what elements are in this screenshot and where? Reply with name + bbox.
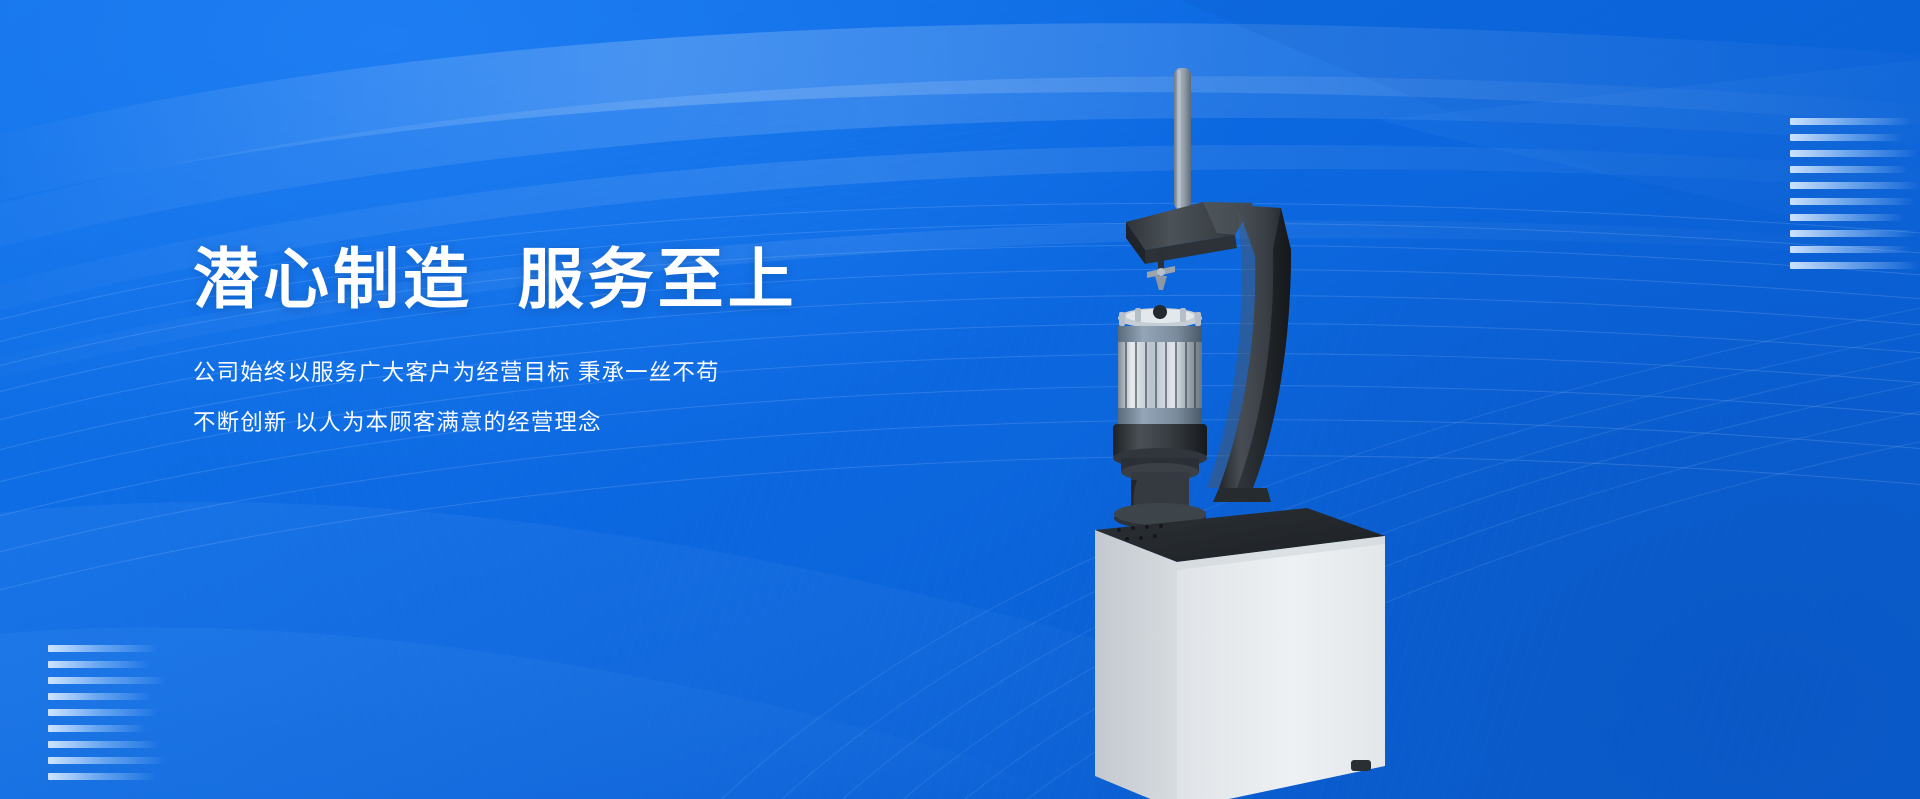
decor-bar (48, 709, 158, 716)
decor-bar (1790, 262, 1920, 269)
overhead-arm (1126, 202, 1253, 264)
decor-bar (1790, 134, 1902, 141)
cabinet-base (1095, 508, 1385, 799)
decor-bar (1790, 230, 1916, 237)
hero-subtitle: 公司始终以服务广大客户为经营目标 秉承一丝不苟 不断创新 以人为本顾客满意的经营… (193, 317, 993, 442)
cylindrical-filter-module (1113, 305, 1207, 529)
decor-bar (48, 741, 160, 748)
decor-bar (48, 645, 158, 652)
decor-bar (48, 693, 152, 700)
decor-bar (1790, 182, 1920, 189)
decor-bar (1790, 166, 1908, 173)
hero-headline: 潜心制造 服务至上 (193, 243, 993, 317)
decor-bar (1790, 118, 1912, 125)
decor-bars-bottom-left (48, 645, 168, 789)
hero-subtitle-line-2: 不断创新 以人为本顾客满意的经营理念 (193, 405, 993, 441)
hero-copy: 潜心制造 服务至上 公司始终以服务广大客户为经营目标 秉承一丝不苟 不断创新 以… (193, 243, 993, 456)
product-machine-image (1085, 50, 1505, 799)
decor-bars-top-right (1790, 118, 1920, 278)
decor-bar (48, 725, 146, 732)
decor-bar (48, 677, 166, 684)
decor-bar (48, 661, 150, 668)
decor-bar (48, 773, 156, 780)
decor-bar (1790, 214, 1904, 221)
hero-subtitle-line-1: 公司始终以服务广大客户为经营目标 秉承一丝不苟 (193, 355, 993, 391)
decor-bar (48, 757, 166, 764)
vertical-guide-rod (1174, 68, 1191, 210)
decor-bar (1790, 150, 1918, 157)
decor-bar (1790, 246, 1910, 253)
hero-banner: 潜心制造 服务至上 公司始终以服务广大客户为经营目标 秉承一丝不苟 不断创新 以… (0, 0, 1920, 799)
decor-bar (1790, 198, 1914, 205)
